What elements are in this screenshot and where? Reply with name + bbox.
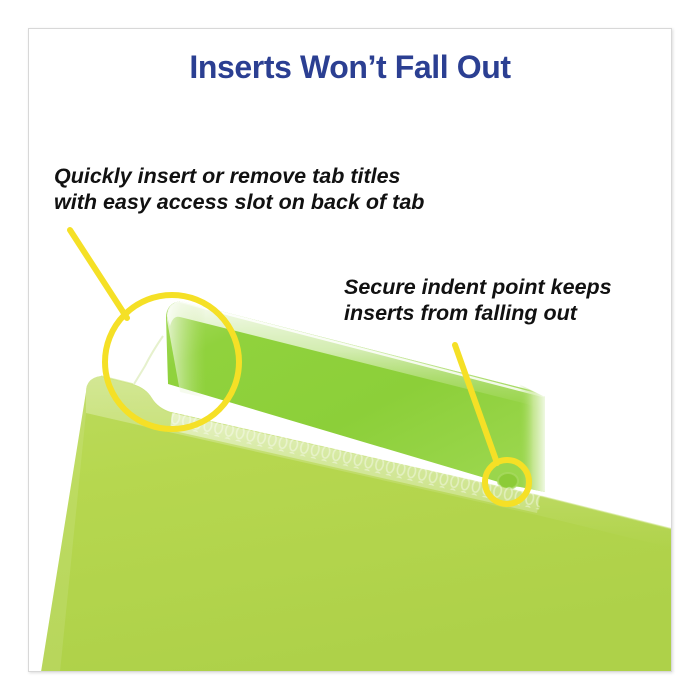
divider-body-top-sheen [86,376,672,548]
circle-highlight-icon-left [105,295,239,429]
leader-line-icon-right [455,345,497,463]
divider-body-top-edge [101,376,672,529]
tab-right-edge [519,384,545,492]
access-slot-edge [134,336,163,384]
image-stage: Inserts Won’t Fall Out Quickly insert or… [0,0,700,700]
divider-body [41,376,672,672]
callout-access-slot-line2: with easy access slot on back of tab [54,189,424,215]
page-title: Inserts Won’t Fall Out [0,49,700,86]
circle-highlight-icon-right [485,460,529,504]
tab-left-highlight [167,302,206,398]
tab-weld-seam [168,410,542,513]
leader-line-icon-left [70,230,127,318]
tab-face [166,301,545,492]
callout-secure-indent-text: Secure indent point keeps inserts from f… [344,274,612,326]
access-slot-notch [133,336,171,412]
divider-body-left-shade [41,392,86,672]
callout-secure-indent-line1: Secure indent point keeps [344,274,612,300]
secure-indent-point [498,473,518,489]
callout-access-slot-line1: Quickly insert or remove tab titles [54,163,424,189]
product-illustration [0,0,700,700]
callout-access-slot-text: Quickly insert or remove tab titles with… [54,163,424,215]
callout-secure-indent-line2: inserts from falling out [344,300,612,326]
product-feature-image: Inserts Won’t Fall Out Quickly insert or… [0,0,700,700]
